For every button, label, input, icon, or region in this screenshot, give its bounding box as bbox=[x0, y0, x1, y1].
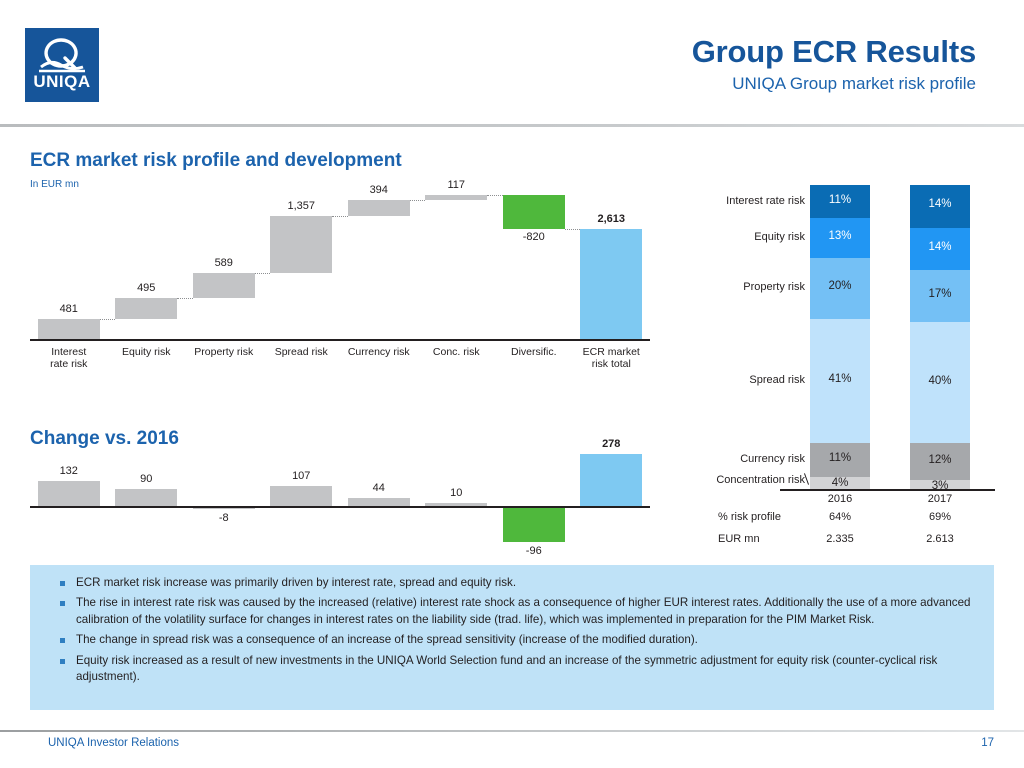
stacked-segment: 17% bbox=[910, 270, 970, 322]
waterfall-bar bbox=[503, 195, 565, 229]
waterfall-connector bbox=[332, 216, 348, 217]
change-value-label: -8 bbox=[181, 512, 267, 524]
stacked-segment: 11% bbox=[810, 185, 870, 218]
stacked-footer-row-label: % risk profile bbox=[718, 511, 781, 523]
waterfall-bar bbox=[115, 298, 177, 319]
stacked-segment-label: 11% bbox=[810, 195, 870, 207]
change-chart: 13290-81074410-96278 bbox=[30, 452, 650, 542]
stacked-footer-row-value: 69% bbox=[890, 511, 990, 523]
change-axis bbox=[30, 506, 650, 508]
stacked-segment-label: 11% bbox=[810, 453, 870, 465]
change-value-label: 44 bbox=[336, 482, 422, 494]
waterfall-axis bbox=[30, 339, 650, 341]
waterfall-value-label: 1,357 bbox=[258, 200, 344, 212]
page-number: 17 bbox=[981, 737, 994, 749]
stacked-segment: 3% bbox=[910, 480, 970, 489]
stacked-segment: 41% bbox=[810, 319, 870, 444]
waterfall-value-label: 394 bbox=[336, 184, 422, 196]
waterfall-connector bbox=[487, 195, 503, 196]
stacked-series-label: Spread risk bbox=[560, 374, 805, 386]
change-value-label: 132 bbox=[26, 465, 112, 477]
change-bar bbox=[348, 498, 410, 506]
stacked-segment-label: 17% bbox=[910, 289, 970, 301]
waterfall-value-label: 495 bbox=[103, 282, 189, 294]
uniqa-logo: UNIQA bbox=[25, 28, 99, 102]
waterfall-connector bbox=[255, 273, 271, 274]
waterfall-bar bbox=[348, 200, 410, 217]
waterfall-bar bbox=[38, 319, 100, 339]
commentary-list: ECR market risk increase was primarily d… bbox=[30, 565, 994, 686]
stacked-segment-label: 12% bbox=[910, 455, 970, 467]
slide-title-block: Group ECR Results UNIQA Group market ris… bbox=[692, 36, 976, 93]
change-value-label: 90 bbox=[103, 473, 189, 485]
commentary-bullet: The change in spread risk was a conseque… bbox=[60, 632, 978, 648]
stacked-series-label: Currency risk bbox=[560, 453, 805, 465]
stacked-segment: 4% bbox=[810, 477, 870, 489]
slide: UNIQA Group ECR Results UNIQA Group mark… bbox=[0, 0, 1024, 768]
stacked-series-label: Equity risk bbox=[560, 231, 805, 243]
change-bar bbox=[270, 486, 332, 506]
page-subtitle: UNIQA Group market risk profile bbox=[692, 75, 976, 94]
commentary-panel: ECR market risk increase was primarily d… bbox=[30, 565, 994, 710]
waterfall-category-label: ECR marketrisk total bbox=[563, 346, 661, 371]
commentary-bullet: Equity risk increased as a result of new… bbox=[60, 653, 978, 686]
change-bar bbox=[503, 506, 565, 542]
waterfall-section-title: ECR market risk profile and development bbox=[30, 150, 402, 172]
change-section-title: Change vs. 2016 bbox=[30, 428, 179, 450]
stacked-segment-label: 13% bbox=[810, 231, 870, 243]
change-value-label: 107 bbox=[258, 470, 344, 482]
page-title: Group ECR Results bbox=[692, 36, 976, 69]
waterfall-bar bbox=[193, 273, 255, 298]
change-value-label: -96 bbox=[491, 545, 577, 557]
commentary-bullet: The rise in interest rate risk was cause… bbox=[60, 595, 978, 628]
stacked-footer-row-value: 2.613 bbox=[890, 533, 990, 545]
change-bar bbox=[115, 489, 177, 506]
change-bar bbox=[38, 481, 100, 506]
stacked-footer-row-value: 2.335 bbox=[790, 533, 890, 545]
uniqa-logo-text: UNIQA bbox=[25, 72, 99, 92]
waterfall-bar bbox=[270, 216, 332, 273]
change-value-label: 278 bbox=[568, 438, 654, 450]
stacked-segment: 20% bbox=[810, 258, 870, 319]
footer-label: UNIQA Investor Relations bbox=[48, 737, 179, 749]
waterfall-chart: 4814955891,357394117-8202,613 bbox=[30, 195, 650, 340]
waterfall-value-label: 481 bbox=[26, 303, 112, 315]
stacked-segment-label: 41% bbox=[810, 374, 870, 386]
stacked-segment: 13% bbox=[810, 218, 870, 258]
stacked-segment: 12% bbox=[910, 443, 970, 479]
stacked-footer-row-value: 64% bbox=[790, 511, 890, 523]
stacked-segment: 14% bbox=[910, 228, 970, 271]
stacked-series-label: Property risk bbox=[560, 281, 805, 293]
stacked-segment-label: 40% bbox=[910, 376, 970, 388]
stacked-series-label: Concentration risk bbox=[560, 474, 805, 486]
waterfall-connector bbox=[100, 319, 116, 320]
stacked-footer-row-label: EUR mn bbox=[718, 533, 760, 545]
stacked-segment: 11% bbox=[810, 443, 870, 476]
waterfall-section-unit: In EUR mn bbox=[30, 179, 79, 190]
stacked-segment-label: 14% bbox=[910, 199, 970, 211]
stacked-segment: 14% bbox=[910, 185, 970, 228]
waterfall-connector bbox=[177, 298, 193, 299]
waterfall-value-label: 2,613 bbox=[568, 213, 654, 225]
change-value-label: 10 bbox=[413, 487, 499, 499]
stacked-year-label: 2016 bbox=[790, 493, 890, 505]
stacked-series-label: Interest rate risk bbox=[560, 195, 805, 207]
commentary-bullet: ECR market risk increase was primarily d… bbox=[60, 575, 978, 591]
stacked-segment: 40% bbox=[910, 322, 970, 444]
waterfall-connector bbox=[410, 200, 426, 201]
waterfall-value-label: 117 bbox=[413, 179, 499, 191]
stacked-segment-label: 20% bbox=[810, 281, 870, 293]
footer-divider bbox=[0, 730, 1024, 732]
stacked-segment-label: 4% bbox=[810, 478, 870, 490]
stacked-segment-label: 14% bbox=[910, 242, 970, 254]
stacked-year-label: 2017 bbox=[890, 493, 990, 505]
stacked-axis bbox=[780, 489, 995, 491]
waterfall-value-label: 589 bbox=[181, 257, 267, 269]
header-divider bbox=[0, 124, 1024, 127]
waterfall-bar bbox=[425, 195, 487, 200]
